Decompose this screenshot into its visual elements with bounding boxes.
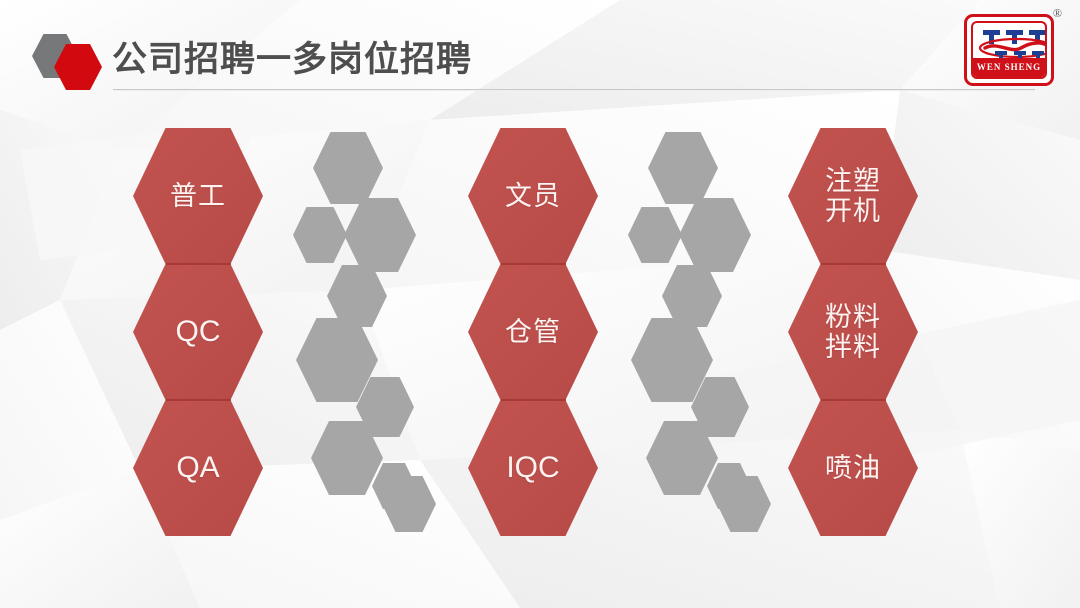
job-hexagon[interactable]: 注塑 开机 [788, 128, 918, 264]
col-jobs-3: 注塑 开机粉料 拌料喷油 [0, 0, 1080, 608]
job-hexagon-label: 注塑 开机 [825, 166, 881, 226]
hexagon-seam [821, 399, 886, 401]
slide-canvas: 公司招聘一多岗位招聘 ® [0, 0, 1080, 608]
job-hexagon[interactable]: 喷油 [788, 400, 918, 536]
job-hexagon-label: 粉料 拌料 [825, 302, 881, 362]
job-hexagon[interactable]: 粉料 拌料 [788, 264, 918, 400]
hexagon-seam [821, 263, 886, 265]
job-hexagon-label: 喷油 [825, 453, 881, 483]
